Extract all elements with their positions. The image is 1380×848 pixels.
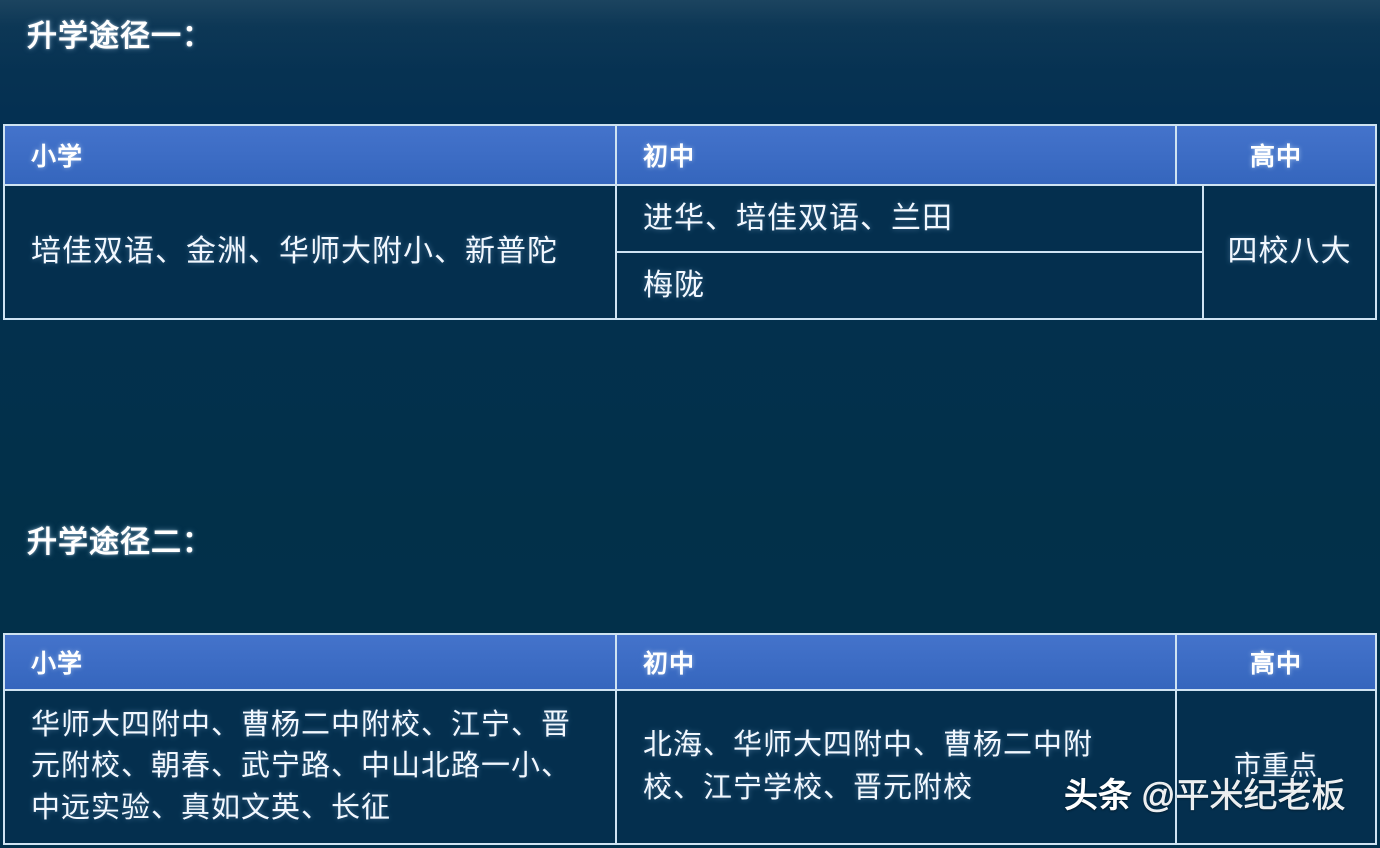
header-label-middle-school: 初中 bbox=[643, 137, 695, 173]
pathway-two-table: 小学 初中 高中 华师大四附中、曹杨二中附校、江宁、晋元附校、朝春、武宁路、中山… bbox=[3, 633, 1377, 845]
header-cell-middle-school: 初中 bbox=[615, 126, 1177, 184]
cell-primary-schools: 培佳双语、金洲、华师大附小、新普陀 bbox=[5, 186, 615, 318]
cell-high-schools: 市重点 bbox=[1177, 691, 1375, 843]
header-label-high-school: 高中 bbox=[1250, 137, 1302, 173]
cell-text-high-schools: 市重点 bbox=[1234, 747, 1318, 786]
header-label-high-school: 高中 bbox=[1250, 644, 1302, 680]
table-body-row: 华师大四附中、曹杨二中附校、江宁、晋元附校、朝春、武宁路、中山北路一小、中远实验… bbox=[5, 691, 1375, 843]
header-label-primary-school: 小学 bbox=[31, 137, 83, 173]
table-header-row: 小学 初中 高中 bbox=[5, 635, 1375, 691]
section-title-two: 升学途径二： bbox=[27, 517, 213, 561]
cell-middle-schools: 北海、华师大四附中、曹杨二中附校、江宁学校、晋元附校 bbox=[615, 691, 1177, 843]
cell-middle-schools-row-1: 进华、培佳双语、兰田 bbox=[617, 186, 1202, 251]
cell-text-primary-schools: 华师大四附中、曹杨二中附校、江宁、晋元附校、朝春、武宁路、中山北路一小、中远实验… bbox=[31, 705, 589, 829]
cell-text-primary-schools: 培佳双语、金洲、华师大附小、新普陀 bbox=[31, 230, 558, 274]
cell-high-schools: 四校八大 bbox=[1204, 186, 1375, 318]
cell-text-middle-schools-1: 进华、培佳双语、兰田 bbox=[643, 197, 953, 241]
header-cell-high-school: 高中 bbox=[1177, 635, 1375, 689]
cell-middle-schools-row-2: 梅陇 bbox=[617, 251, 1202, 318]
header-cell-high-school: 高中 bbox=[1177, 126, 1375, 184]
cell-text-high-schools: 四校八大 bbox=[1228, 230, 1352, 274]
slide-canvas: 升学途径一： 小学 初中 高中 培佳双语、金洲、华师大附小、新普陀 进华、培佳双… bbox=[0, 0, 1380, 848]
pathway-one-table: 小学 初中 高中 培佳双语、金洲、华师大附小、新普陀 进华、培佳双语、兰田 梅陇 bbox=[3, 124, 1377, 320]
header-cell-primary-school: 小学 bbox=[5, 126, 615, 184]
header-label-primary-school: 小学 bbox=[31, 644, 83, 680]
header-cell-middle-school: 初中 bbox=[615, 635, 1177, 689]
table-body-row: 培佳双语、金洲、华师大附小、新普陀 进华、培佳双语、兰田 梅陇 四校八大 bbox=[5, 186, 1375, 318]
header-cell-primary-school: 小学 bbox=[5, 635, 615, 689]
header-label-middle-school: 初中 bbox=[643, 644, 695, 680]
cell-primary-schools: 华师大四附中、曹杨二中附校、江宁、晋元附校、朝春、武宁路、中山北路一小、中远实验… bbox=[5, 691, 615, 843]
table-header-row: 小学 初中 高中 bbox=[5, 126, 1375, 186]
cell-text-middle-schools: 北海、华师大四附中、曹杨二中附校、江宁学校、晋元附校 bbox=[643, 724, 1149, 811]
section-title-one: 升学途径一： bbox=[27, 11, 213, 55]
cell-middle-schools-group: 进华、培佳双语、兰田 梅陇 bbox=[615, 186, 1204, 318]
cell-text-middle-schools-2: 梅陇 bbox=[643, 264, 705, 308]
